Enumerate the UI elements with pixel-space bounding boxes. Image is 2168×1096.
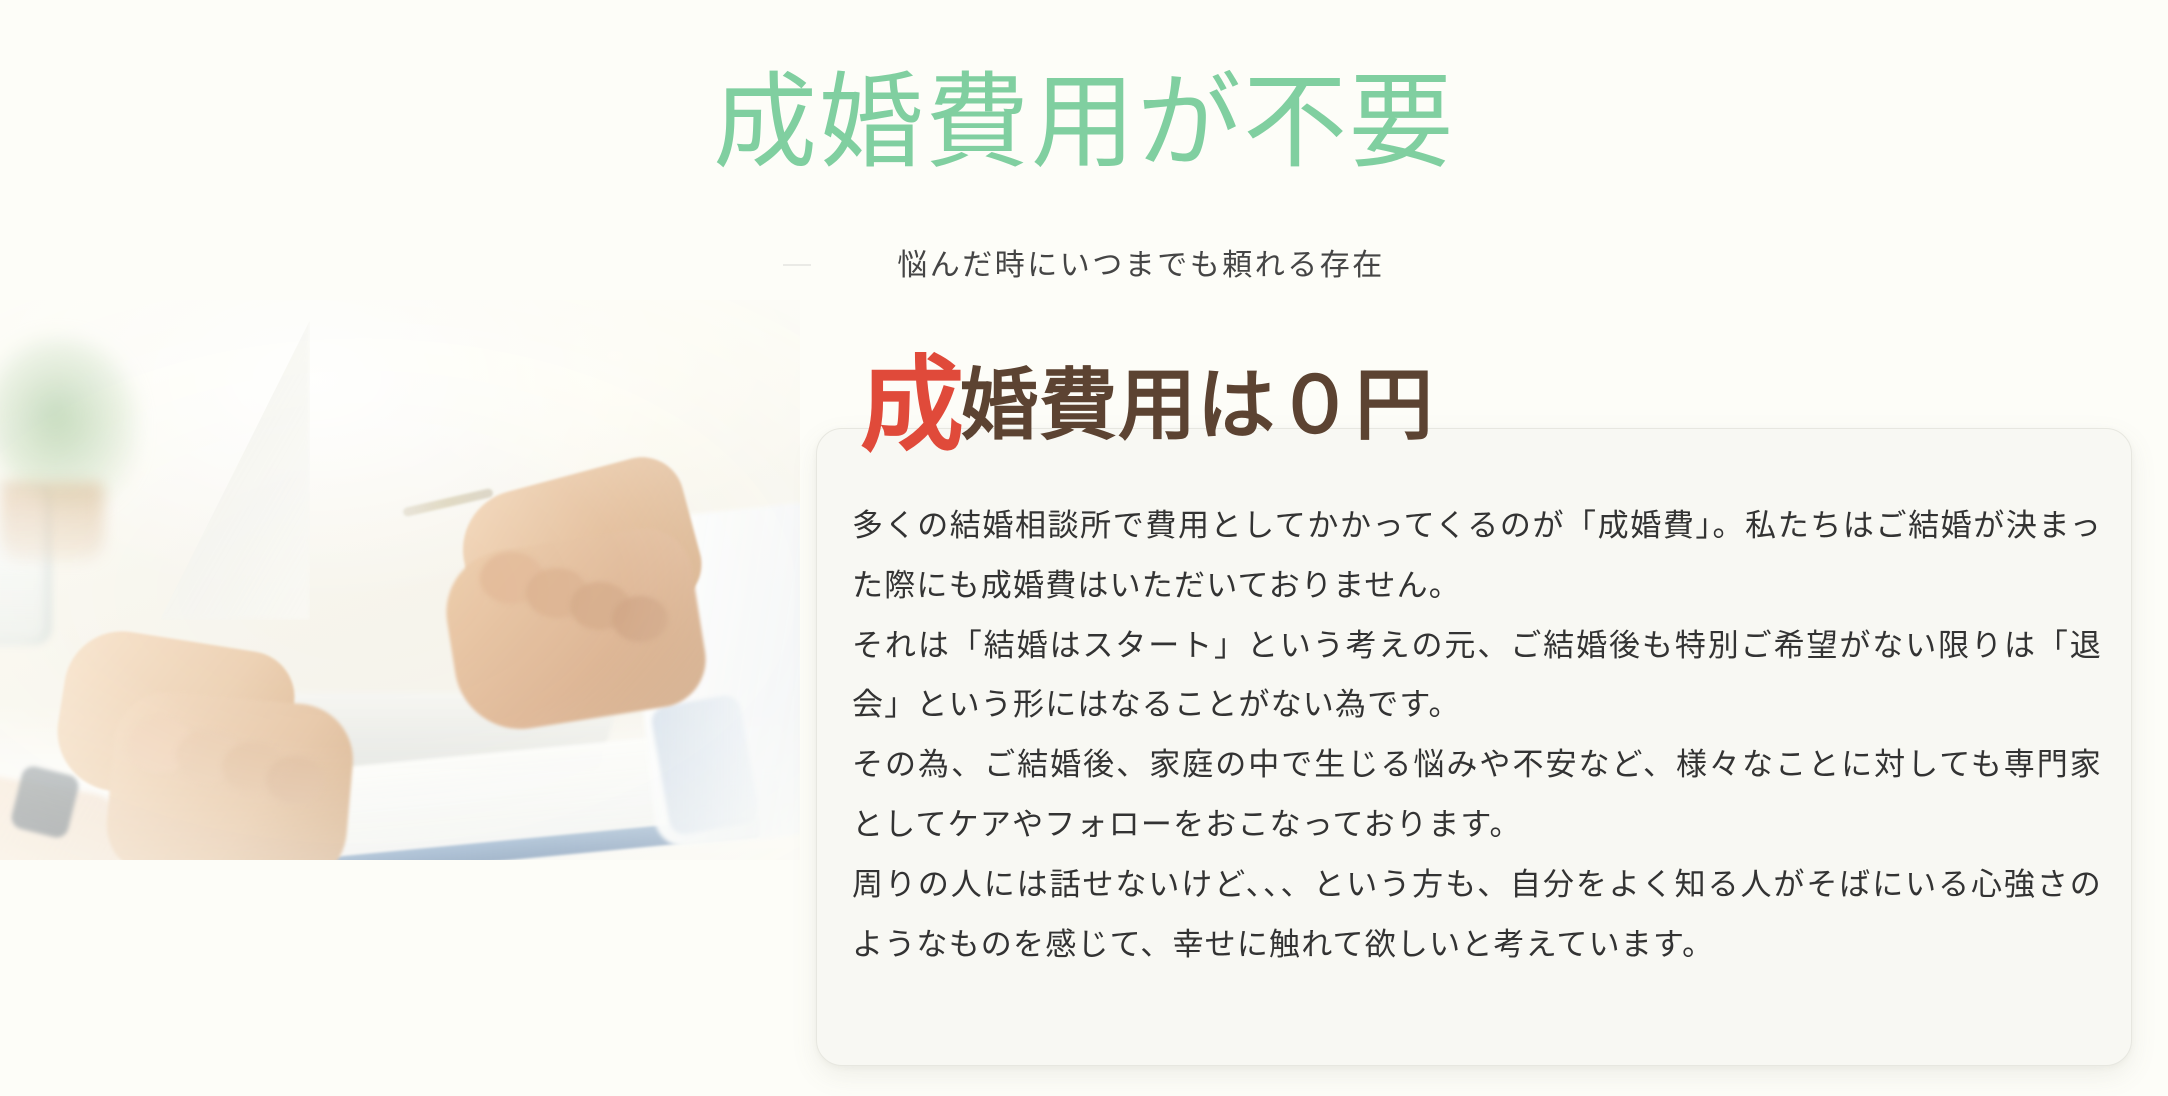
section-subtitle: 悩んだ時にいつまでも頼れる存在 [897,249,1385,282]
section-subtitle-row: 悩んだ時にいつまでも頼れる存在 [0,240,2168,284]
consultation-photo [0,300,800,860]
page-title-accent-char: 成 [860,349,960,464]
knuckle-decor [612,596,668,642]
body-paragraph: それは「結婚はスタート」という考えの元、ご結婚後も特別ご希望がない限りは「退会」… [852,616,2102,736]
body-paragraph: 多くの結婚相談所で費用としてかかってくるのが「成婚費」。私たちはご結婚が決まった… [852,496,2102,616]
section-eyebrow-heading: 成婚費用が不要 [0,68,2168,180]
marketing-section: 成婚費用が不要 悩んだ時にいつまでも頼れる存在 成婚費用は０円 多くの結婚相談所… [0,0,2168,1096]
page-title: 成婚費用は０円 [860,355,1434,459]
body-paragraph: その為、ご結婚後、家庭の中で生じる悩みや不安など、様々なことに対しても専門家とし… [852,735,2102,855]
plant-pot-decor [0,482,104,560]
page-title-rest: 婚費用は０円 [960,362,1434,449]
subtitle-dash-decor [783,264,811,266]
knuckle-decor [266,756,324,804]
card-body-text: 多くの結婚相談所で費用としてかかってくるのが「成婚費」。私たちはご結婚が決まった… [852,496,2102,975]
body-paragraph: 周りの人には話せないけど、、、という方も、自分をよく知る人がそばにいる心強さのよ… [852,855,2102,975]
